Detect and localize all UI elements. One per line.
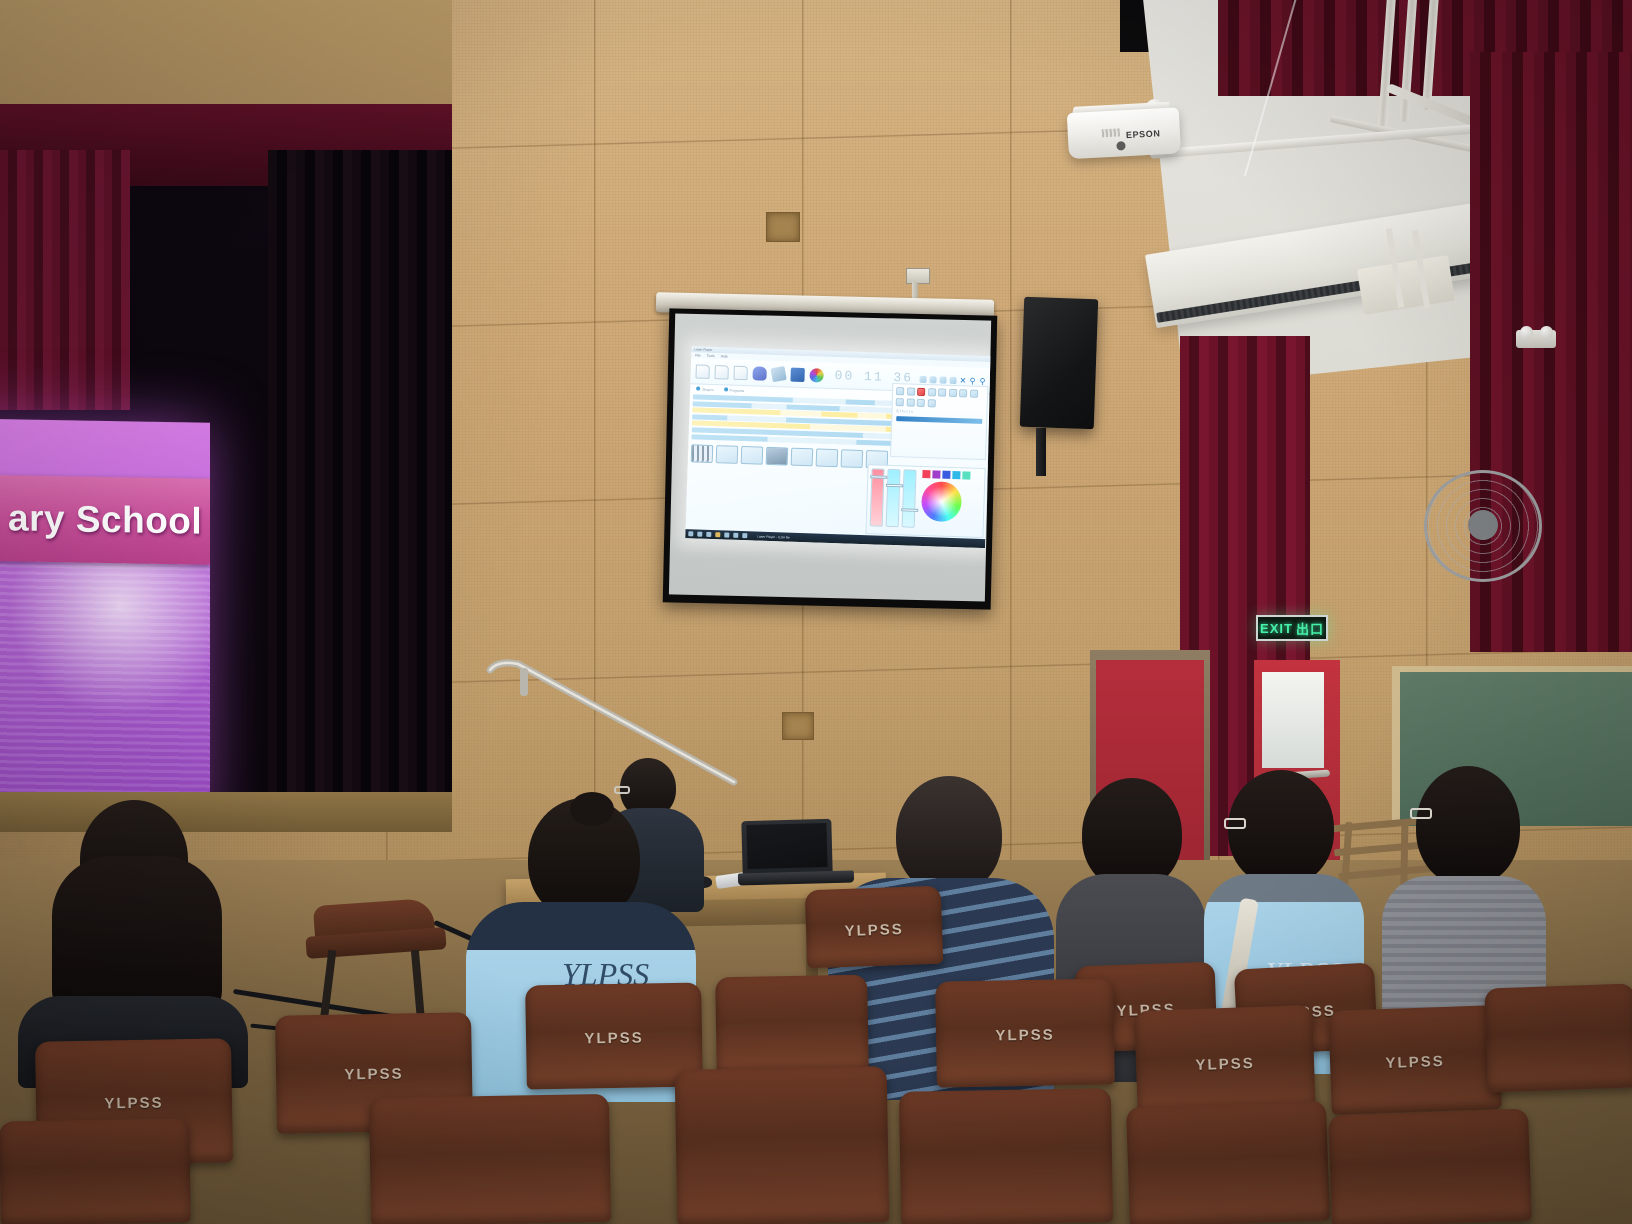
move-icon[interactable] — [919, 375, 926, 382]
menu-file[interactable]: File — [695, 353, 701, 357]
save-document-icon[interactable] — [733, 365, 747, 379]
chair-row3[interactable] — [1484, 983, 1632, 1092]
head — [1416, 766, 1520, 886]
exit-sign-text-en: EXIT — [1260, 621, 1293, 636]
projector-brand-label: EPSON — [1126, 128, 1161, 140]
scale-icon[interactable] — [939, 376, 946, 383]
stage-banner: ary School SAPIENTIA 致知力行 — [0, 417, 210, 832]
chair-row5[interactable] — [0, 1118, 191, 1224]
effects-glyph-grid — [893, 384, 988, 412]
epson-projector: EPSON — [1066, 101, 1189, 171]
effect-icon[interactable] — [896, 398, 904, 406]
clip-thumbnail[interactable] — [691, 444, 714, 463]
effects-progress-bar — [896, 416, 982, 424]
empty-chair-stage-left[interactable] — [306, 902, 456, 1024]
chair-row5[interactable] — [675, 1066, 890, 1224]
taskbar-icon[interactable] — [697, 532, 702, 537]
laptop-screen[interactable] — [746, 823, 827, 869]
chair-row3[interactable]: YLPSS — [1328, 1005, 1502, 1115]
open-document-icon[interactable] — [714, 365, 728, 379]
start-icon[interactable] — [688, 531, 693, 536]
projector-body: EPSON — [1067, 107, 1181, 159]
checkbox-programs[interactable]: Programs — [724, 387, 745, 393]
rotate-icon[interactable] — [929, 376, 936, 383]
chair-row3[interactable]: YLPSS — [935, 978, 1115, 1087]
eyeglasses-icon — [1224, 818, 1246, 829]
eyeglasses-icon — [614, 786, 630, 794]
effect-icon[interactable] — [896, 387, 904, 395]
effect-icon[interactable] — [906, 398, 914, 406]
fan-hub — [1468, 510, 1498, 540]
clip-thumbnail[interactable] — [741, 446, 764, 465]
clip-thumbnail[interactable] — [816, 449, 839, 468]
clip-thumbnail[interactable] — [791, 448, 814, 467]
hair-bun — [570, 792, 614, 826]
chair-row3[interactable] — [715, 975, 869, 1078]
projector-vent — [1102, 128, 1120, 137]
intensity-slider[interactable] — [870, 468, 885, 526]
emergency-light-lamp — [1520, 326, 1533, 339]
effect-icon-selected[interactable] — [917, 388, 925, 396]
swatch[interactable] — [952, 471, 960, 479]
chair-row5[interactable] — [1328, 1109, 1532, 1224]
zoom-in-icon[interactable]: ⚲ — [969, 377, 976, 384]
colour-properties-panel — [865, 464, 985, 538]
head — [896, 776, 1002, 894]
exit-sign-text-zh: 出口 — [1296, 619, 1324, 638]
chair-row5[interactable] — [369, 1094, 611, 1224]
eyeglasses-icon — [1410, 808, 1432, 819]
stage: ary School SAPIENTIA 致知力行 — [0, 0, 452, 832]
mirror-icon[interactable] — [949, 376, 956, 383]
clip-thumbnail[interactable] — [716, 445, 739, 464]
effect-icon[interactable] — [969, 390, 977, 398]
swatch[interactable] — [942, 471, 950, 479]
chair-row5[interactable] — [899, 1088, 1113, 1224]
wall-outlet — [906, 268, 930, 284]
tag-icon[interactable] — [771, 366, 787, 382]
effect-icon[interactable] — [917, 398, 925, 406]
door-window — [1262, 672, 1324, 768]
projected-application-window: Laser Player File Tools Help — [685, 346, 991, 548]
projector-lens — [1116, 141, 1125, 150]
clip-thumbnail[interactable] — [841, 449, 864, 468]
saturation-slider[interactable] — [886, 469, 901, 527]
banner-photo — [0, 537, 210, 832]
taskbar-icon[interactable] — [706, 532, 711, 537]
taskbar-active-window[interactable]: Laser Player - ILDA file — [757, 534, 790, 539]
saturation-slider-2[interactable] — [902, 469, 917, 527]
photo-scene: ary School SAPIENTIA 致知力行 — [0, 0, 1632, 1224]
effect-icon[interactable] — [938, 388, 946, 396]
swatch[interactable] — [932, 470, 940, 478]
taskbar-icon[interactable] — [724, 532, 729, 537]
chair-row5[interactable] — [1126, 1101, 1330, 1224]
menu-help[interactable]: Help — [721, 354, 728, 358]
menu-tools[interactable]: Tools — [707, 354, 715, 358]
screen-border: Laser Player File Tools Help — [663, 308, 998, 609]
laptop-lid — [741, 819, 832, 875]
cloud-icon[interactable] — [752, 366, 766, 380]
emergency-light-lamp — [1540, 326, 1553, 339]
screen-surface: Laser Player File Tools Help — [669, 313, 991, 601]
wall-speaker — [1020, 297, 1098, 430]
color-sphere-icon[interactable] — [809, 368, 823, 382]
taskbar-icon[interactable] — [715, 532, 720, 537]
scissors-icon[interactable]: ✕ — [959, 377, 966, 384]
school-name-text: ary School — [0, 495, 202, 542]
color-wheel[interactable] — [921, 481, 962, 522]
taskbar-icon[interactable] — [742, 533, 747, 538]
effect-icon[interactable] — [949, 389, 957, 397]
effect-icon[interactable] — [927, 399, 935, 407]
swatch[interactable] — [962, 471, 970, 479]
projection-screen: Laser Player File Tools Help — [658, 296, 996, 612]
stage-curtain-right — [268, 150, 452, 830]
effect-icon[interactable] — [959, 389, 967, 397]
chair-row2[interactable]: YLPSS — [805, 886, 944, 969]
banner-title-bar: ary School — [0, 473, 210, 565]
colour-swatches — [922, 470, 970, 480]
zoom-out-icon[interactable]: ⚲ — [979, 377, 986, 384]
wall-vent-panel — [766, 212, 800, 242]
wall-vent-panel — [782, 712, 814, 740]
new-document-icon[interactable] — [695, 364, 709, 378]
effect-icon[interactable] — [907, 387, 915, 395]
wall-fan — [1424, 470, 1542, 582]
taskbar-icon[interactable] — [733, 533, 738, 538]
stage-curtain-left — [0, 150, 130, 410]
effect-icon[interactable] — [928, 388, 936, 396]
effects-panel: Effects — [890, 383, 988, 460]
exit-sign: EXIT 出口 — [1256, 615, 1328, 641]
image-icon[interactable] — [790, 367, 804, 381]
clip-thumbnail[interactable] — [766, 447, 789, 466]
checkbox-shapes[interactable]: Shapes — [696, 386, 714, 392]
speaker-bracket — [1036, 428, 1046, 476]
app-title: Laser Player — [694, 347, 712, 352]
swatch[interactable] — [922, 470, 930, 478]
